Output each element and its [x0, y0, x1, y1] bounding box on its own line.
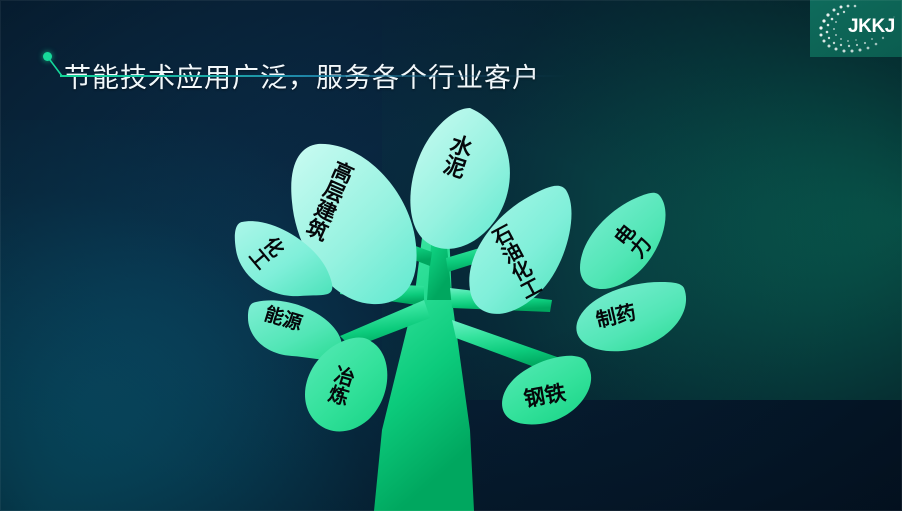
title-underline-rule: [60, 75, 566, 77]
leaf-zhiyao: [576, 282, 686, 351]
brand-logo[interactable]: JKKJ: [810, 0, 902, 57]
leaf-gangtie: [502, 356, 591, 425]
slide-canvas: 水泥 高层建筑 化工 能源 冶炼 石油化工 电力 制药 钢铁 节能技术应用广泛，…: [0, 0, 902, 511]
logo-wordmark: JKKJ: [848, 17, 895, 36]
leaf-dianli: [580, 193, 666, 289]
title-accent-dot-icon: [43, 52, 52, 61]
